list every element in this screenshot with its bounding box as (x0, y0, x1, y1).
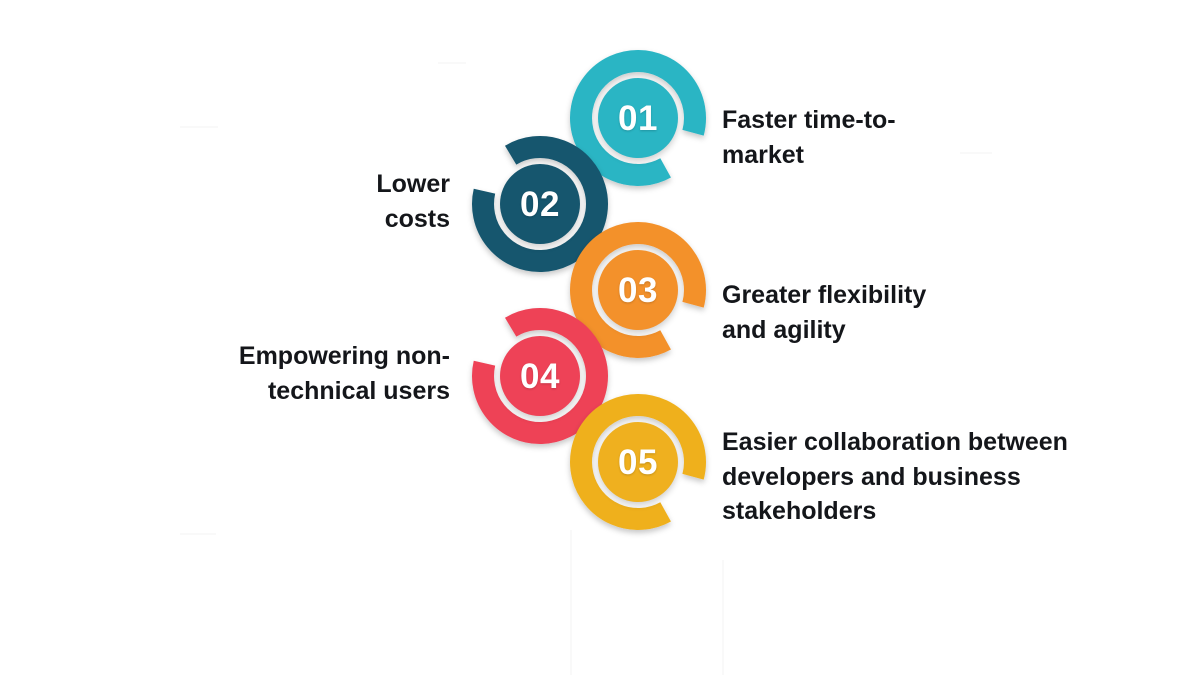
step-label-02: Lower costs (188, 167, 450, 236)
step-label-03: Greater flexibility and agility (722, 278, 1122, 347)
step-label-04: Empowering non- technical users (150, 339, 450, 408)
step-number-01: 01 (598, 78, 678, 158)
step-label-01: Faster time-to- market (722, 103, 1092, 172)
background-artifact (570, 530, 572, 675)
background-artifact (722, 560, 724, 675)
step-label-05: Easier collaboration between developers … (722, 425, 1122, 529)
step-number-02: 02 (500, 164, 580, 244)
background-artifact (180, 126, 218, 128)
infographic-canvas: 01Faster time-to- market02Lower costs03G… (0, 0, 1200, 675)
background-artifact (180, 533, 216, 535)
background-artifact (438, 62, 466, 64)
step-number-05: 05 (598, 422, 678, 502)
step-number-04: 04 (500, 336, 580, 416)
step-number-03: 03 (598, 250, 678, 330)
step-badge-05[interactable]: 05 (570, 394, 706, 530)
